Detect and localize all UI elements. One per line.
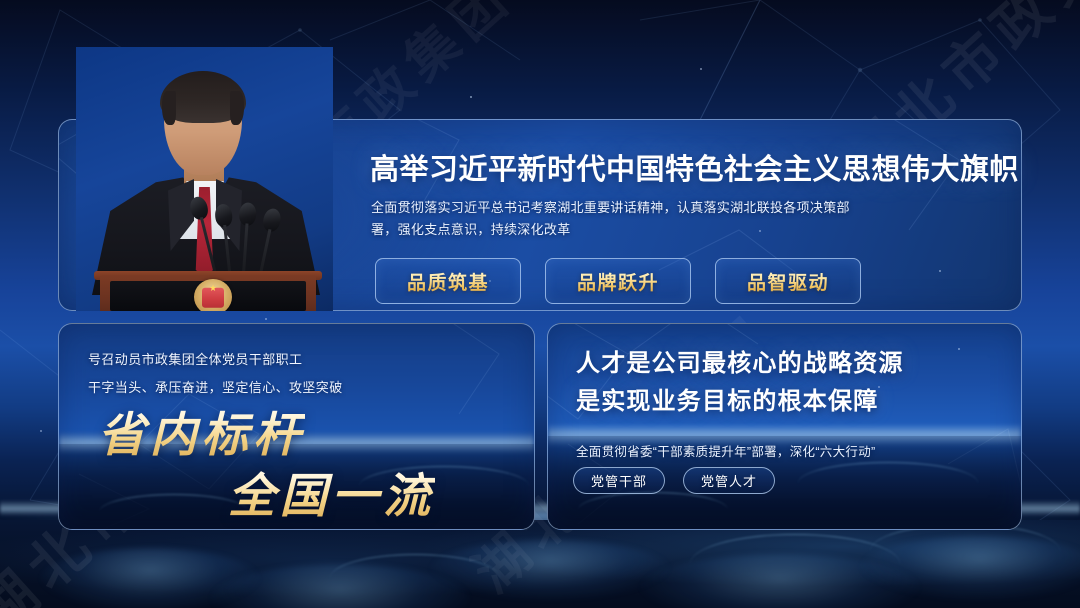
top-card-subtitle-line1: 全面贯彻落实习近平总书记考察湖北重要讲话精神，认真落实湖北联投各项决策部 <box>371 197 850 216</box>
cloud-sea <box>0 520 1080 608</box>
page-title: 高举习近平新时代中国特色社会主义思想伟大旗帜 <box>370 146 1019 188</box>
calligraphy-shengnei-biaogan: 省内标杆 <box>98 396 305 465</box>
bottom-right-heading-line2: 是实现业务目标的根本保障 <box>576 381 878 416</box>
pill-dangguan-rencai[interactable]: 党管人才 <box>683 467 775 494</box>
bottom-right-pill-row: 党管干部 党管人才 <box>573 467 775 494</box>
pill-dangguan-ganbu[interactable]: 党管干部 <box>573 467 665 494</box>
bottom-right-subtitle: 全面贯彻省委“干部素质提升年”部署，深化“六大行动” <box>576 441 875 460</box>
slide-stage: 湖北市政集团 湖北市政集团 湖北市政集团 湖北市政集团 <box>0 0 1080 608</box>
badge-label: 品牌跃升 <box>577 268 659 295</box>
badge-label: 品质筑基 <box>407 268 489 295</box>
national-emblem-icon <box>194 279 232 311</box>
calligraphy-quanguo-yiliu: 全国一流 <box>228 457 435 526</box>
top-card-subtitle-line2: 署，强化支点意识，持续深化改革 <box>371 219 571 238</box>
bottom-right-heading-line1: 人才是公司最核心的战略资源 <box>576 343 904 378</box>
badge-pinzhi-qudong[interactable]: 品智驱动 <box>715 258 861 304</box>
top-card-badge-row: 品质筑基 品牌跃升 品智驱动 <box>375 258 861 304</box>
pill-label: 党管人才 <box>701 471 757 490</box>
speaker-photo <box>76 47 333 311</box>
badge-label: 品智驱动 <box>747 268 829 295</box>
badge-pinpai-yuesheng[interactable]: 品牌跃升 <box>545 258 691 304</box>
badge-pinzhi-zhuji[interactable]: 品质筑基 <box>375 258 521 304</box>
pill-label: 党管干部 <box>591 471 647 490</box>
bottom-left-line1: 号召动员市政集团全体党员干部职工 <box>88 349 302 368</box>
bottom-left-line2: 干字当头、承压奋进，坚定信心、攻坚突破 <box>88 377 343 396</box>
